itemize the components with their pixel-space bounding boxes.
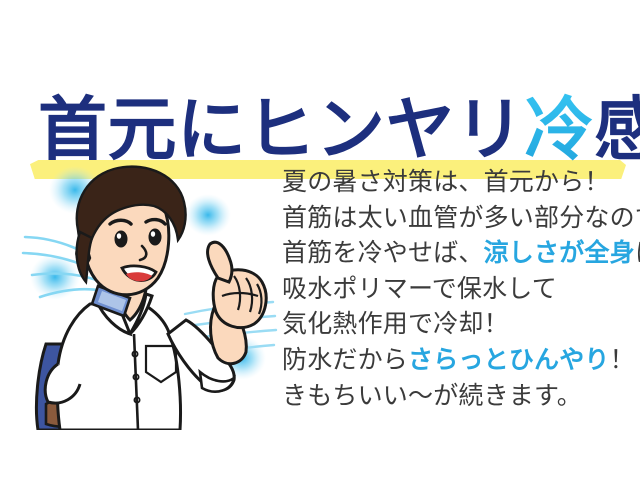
headline-segment-cyan: 冷 [525, 89, 595, 170]
copy-line-3-pre: 首筋を冷やせば、 [282, 238, 484, 267]
copy-line-6: 防水だからさらっとひんやり！ [282, 342, 638, 378]
advertisement-canvas: 首元にヒンヤリ冷感! 夏の暑さ対策は、首元から！ 首筋は太い血管が多い部分なので… [0, 0, 640, 485]
copy-line-3-post: に！ [635, 238, 640, 267]
copy-line-5: 気化熱作用で冷却！ [282, 306, 638, 342]
businessman-illustration [18, 158, 280, 430]
copy-line-3: 首筋を冷やせば、涼しさが全身に！ [282, 235, 638, 271]
copy-line-2: 首筋は太い血管が多い部分なので [282, 200, 638, 236]
copy-line-7-pre: きもちいい〜が続きます。 [282, 381, 582, 410]
copy-line-6-post: ！ [610, 345, 635, 374]
copy-line-6-accent: さらっとひんやり [408, 345, 610, 374]
copy-line-7: きもちいい〜が続きます。 [282, 378, 638, 414]
body-copy-block: 夏の暑さ対策は、首元から！ 首筋は太い血管が多い部分なので 首筋を冷やせば、涼し… [282, 164, 638, 413]
copy-line-1-pre: 夏の暑さ対策は、首元から！ [282, 167, 610, 196]
copy-line-4-pre: 吸水ポリマーで保水して [282, 274, 557, 303]
copy-line-5-pre: 気化熱作用で冷却！ [282, 309, 509, 338]
copy-line-2-pre: 首筋は太い血管が多い部分なので [282, 203, 640, 232]
copy-line-1: 夏の暑さ対策は、首元から！ [282, 164, 638, 200]
copy-line-3-accent: 涼しさが全身 [484, 238, 635, 267]
head [76, 167, 185, 295]
copy-line-6-pre: 防水だから [282, 345, 408, 374]
copy-line-4: 吸水ポリマーで保水して [282, 271, 638, 307]
headline-block: 首元にヒンヤリ冷感! [0, 46, 640, 138]
headline-segment-navy-2: 感 [594, 89, 640, 170]
white-shirt [45, 294, 180, 430]
